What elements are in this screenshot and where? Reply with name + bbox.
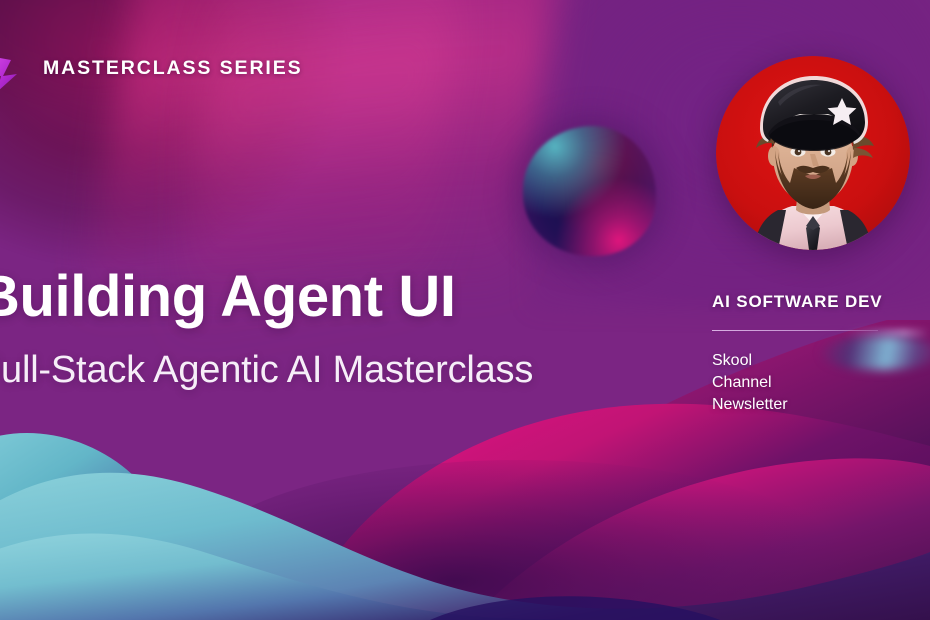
panel-link-skool[interactable]: Skool — [712, 350, 912, 372]
info-panel: AI SOFTWARE DEV Skool Channel Newsletter — [712, 292, 912, 416]
avatar — [716, 56, 910, 250]
page-title: Building Agent UI — [0, 268, 678, 326]
panel-divider — [712, 330, 878, 331]
gradient-sphere-icon — [523, 126, 656, 256]
eyebrow-label: MASTERCLASS SERIES — [43, 57, 303, 80]
masterclass-banner: MASTERCLASS SERIES Building Agent UI Ful… — [0, 0, 930, 620]
headline-block: Building Agent UI Full-Stack Agentic AI … — [0, 268, 678, 391]
panel-link-list: Skool Channel Newsletter — [712, 350, 912, 416]
brand-mark-icon — [0, 54, 21, 94]
panel-title: AI SOFTWARE DEV — [712, 292, 912, 312]
panel-link-channel[interactable]: Channel — [712, 372, 912, 394]
panel-link-newsletter[interactable]: Newsletter — [712, 394, 912, 416]
page-subtitle: Full-Stack Agentic AI Masterclass — [0, 351, 678, 391]
